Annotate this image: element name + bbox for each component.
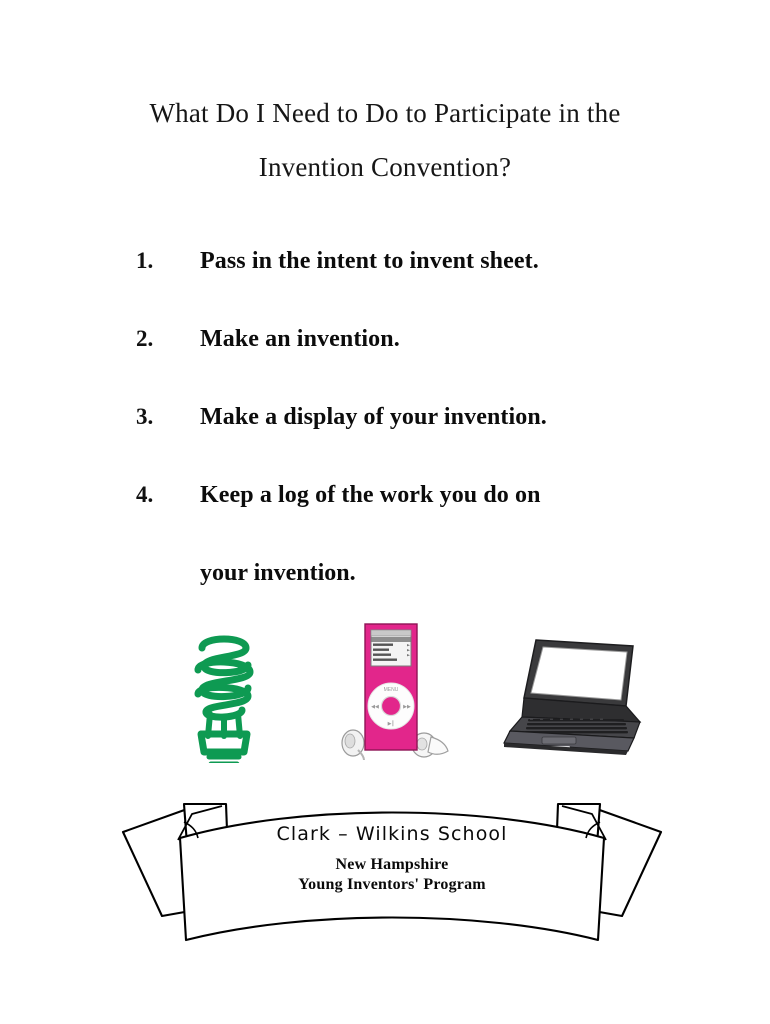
step-number: 3. <box>136 402 200 432</box>
illustration-row: MENU ◀◀ ▶▶ ▶┃ <box>0 618 770 768</box>
step-text: Pass in the intent to invent sheet. <box>200 246 539 276</box>
earbud-left-icon <box>342 730 364 760</box>
list-item: 1. Pass in the intent to invent sheet. <box>136 246 696 324</box>
step-text: Make a display of your invention. <box>200 402 547 432</box>
step-text: Make an invention. <box>200 324 400 354</box>
page-title: What Do I Need to Do to Participate in t… <box>60 86 710 194</box>
compact-fluorescent-bulb-image <box>168 618 280 763</box>
list-item: 4. Keep a log of the work you do on <box>136 480 696 558</box>
steps-list: 1. Pass in the intent to invent sheet. 2… <box>136 246 696 628</box>
svg-text:◀◀: ◀◀ <box>371 704 379 710</box>
svg-text:▶▶: ▶▶ <box>403 704 411 710</box>
document-page: What Do I Need to Do to Participate in t… <box>0 0 770 1024</box>
step-number: 1. <box>136 246 200 276</box>
step-number: 4. <box>136 480 200 510</box>
netbook-laptop-image <box>500 618 650 763</box>
svg-text:MENU: MENU <box>384 687 399 693</box>
banner-ribbon: Clark – Wilkins School New Hampshire You… <box>118 798 666 950</box>
list-item: 2. Make an invention. <box>136 324 696 402</box>
step-number: 2. <box>136 324 200 354</box>
ipod-nano-image: MENU ◀◀ ▶▶ ▶┃ <box>336 618 456 768</box>
step-text: Keep a log of the work you do on <box>200 480 541 510</box>
svg-text:▶┃: ▶┃ <box>388 720 395 727</box>
list-item: 3. Make a display of your invention. <box>136 402 696 480</box>
page-title-line-1: What Do I Need to Do to Participate in t… <box>60 86 710 140</box>
page-title-line-2: Invention Convention? <box>60 140 710 194</box>
